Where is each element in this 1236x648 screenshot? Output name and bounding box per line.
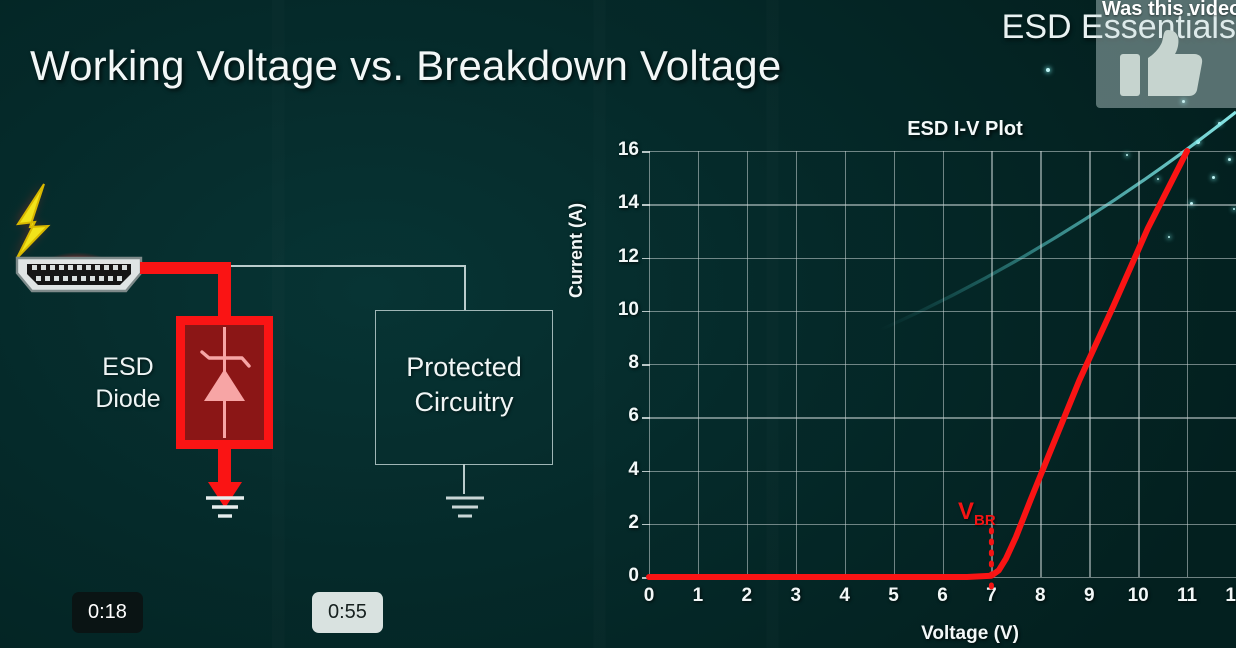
chart-title: ESD I-V Plot <box>850 118 1080 141</box>
x-axis-tick-label: 1 <box>681 585 715 607</box>
thumbs-up-icon[interactable] <box>1118 28 1206 100</box>
ground-symbol-icon <box>198 492 252 526</box>
x-axis-tick-label: 9 <box>1072 585 1106 607</box>
wire-protected-to-ground <box>463 464 465 494</box>
esd-diode-label-line2: Diode <box>84 384 172 416</box>
y-axis-tick-label: 16 <box>605 139 639 161</box>
hdmi-connector-icon <box>14 255 144 295</box>
tvs-zener-diode-icon <box>185 325 264 440</box>
survey-overlay-panel[interactable]: Was this video <box>1096 0 1236 108</box>
x-axis-tick-label: 6 <box>926 585 960 607</box>
wire-connector-to-node <box>140 262 230 274</box>
x-axis-tick-label: 12 <box>1219 585 1236 607</box>
video-frame: Working Voltage vs. Breakdown Voltage ES… <box>0 0 1236 648</box>
x-axis-tick-label: 5 <box>877 585 911 607</box>
protected-circuitry-label: Protected Circuitry <box>375 350 553 420</box>
y-axis-tick-label: 6 <box>605 405 639 427</box>
wire-node-to-diode <box>218 262 231 322</box>
vbr-label: V <box>958 498 974 525</box>
x-axis-tick-label: 4 <box>828 585 862 607</box>
protected-label-line2: Circuitry <box>375 385 553 420</box>
plot-area: 01234567891011120246810121416 <box>649 151 1236 577</box>
iv-curve-layer <box>649 151 1236 577</box>
timestamp-current[interactable]: 0:18 <box>72 592 143 633</box>
wire-protected-drop <box>464 265 466 311</box>
x-axis-tick-label: 3 <box>779 585 813 607</box>
x-axis-tick-label: 2 <box>730 585 764 607</box>
timestamp-total[interactable]: 0:55 <box>312 592 383 633</box>
wire-node-to-protected <box>231 265 466 267</box>
survey-question: Was this video <box>1102 0 1236 21</box>
chart-x-axis-label: Voltage (V) <box>860 623 1080 645</box>
esd-diode-label: ESD Diode <box>84 352 172 415</box>
y-axis-tick-label: 2 <box>605 512 639 534</box>
iv-plot-chart: ESD I-V Plot Current (A) Voltage (V) 012… <box>570 108 1236 648</box>
esd-diode-component[interactable] <box>176 316 273 449</box>
chart-y-axis-label: Current (A) <box>566 203 587 298</box>
x-axis-tick-label: 0 <box>632 585 666 607</box>
y-axis-tick-label: 12 <box>605 246 639 268</box>
particle <box>1046 68 1050 72</box>
iv-curve <box>649 151 1187 577</box>
y-axis-tick-label: 8 <box>605 352 639 374</box>
x-axis-tick-label: 10 <box>1121 585 1155 607</box>
breakdown-voltage-annotation: VBR <box>958 498 996 529</box>
x-axis-tick-label: 8 <box>1023 585 1057 607</box>
y-axis-tick-label: 0 <box>605 565 639 587</box>
protected-label-line1: Protected <box>375 350 553 385</box>
vbr-sublabel: BR <box>974 512 996 529</box>
esd-diode-label-line1: ESD <box>84 352 172 384</box>
x-axis-tick-label: 11 <box>1170 585 1204 607</box>
circuit-diagram: ESD Diode Protected Circuitry <box>0 0 600 648</box>
y-axis-tick-label: 14 <box>605 192 639 214</box>
y-axis-tick-label: 4 <box>605 459 639 481</box>
ground-symbol-icon <box>438 492 492 526</box>
y-axis-tick-label: 10 <box>605 299 639 321</box>
